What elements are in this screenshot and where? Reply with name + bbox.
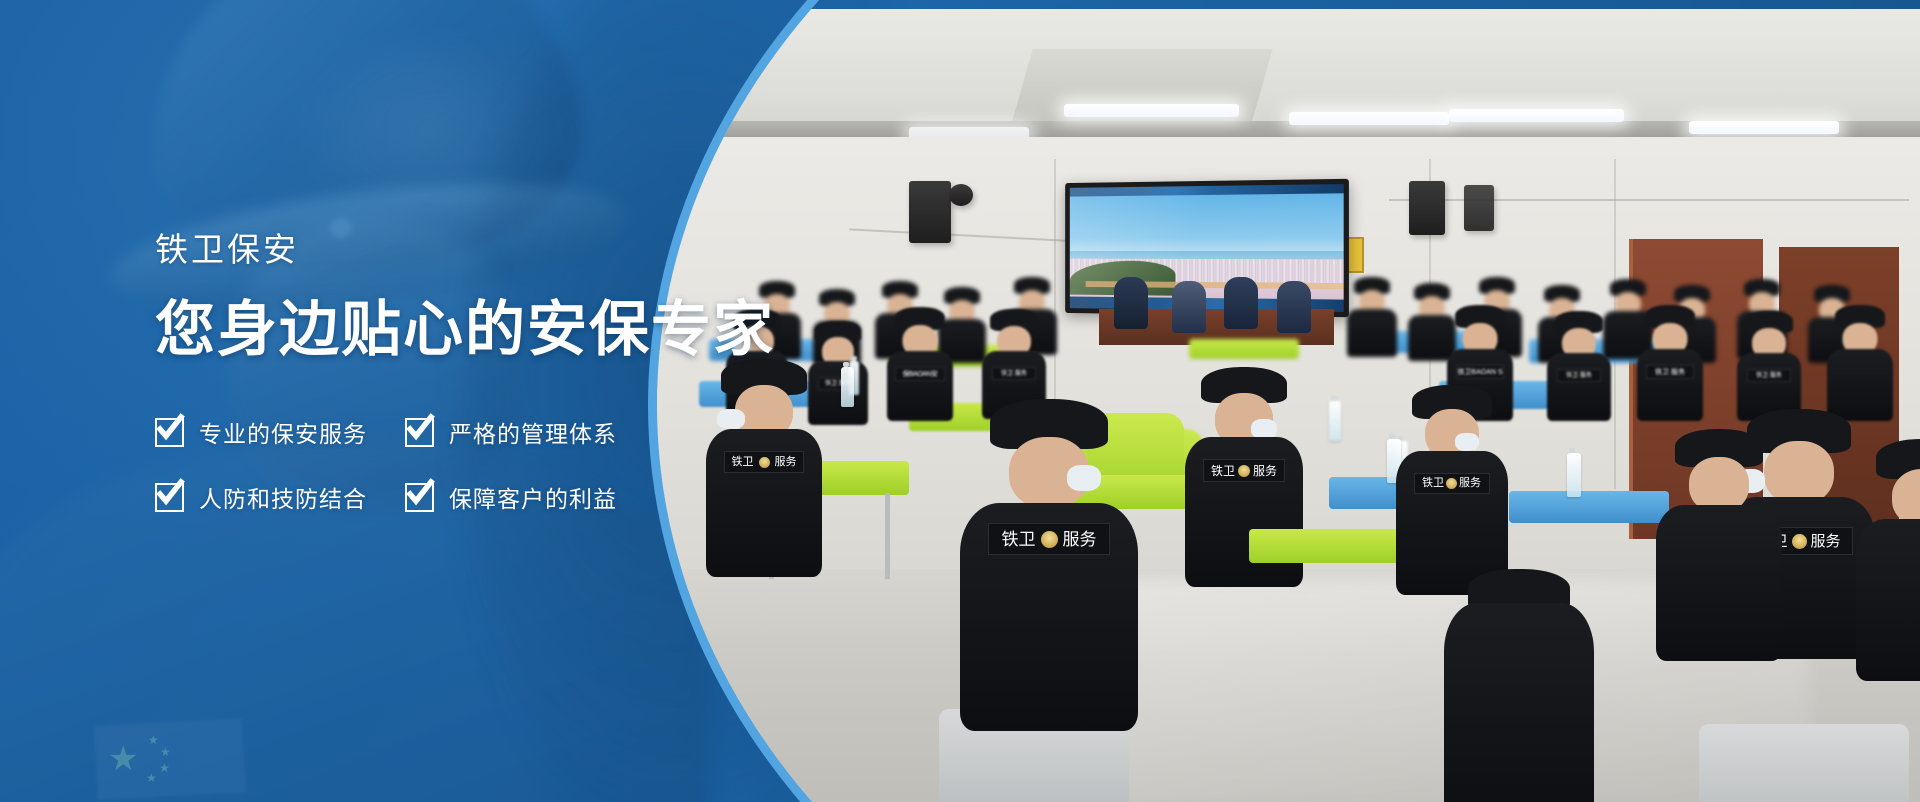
water-bottle-3 (1567, 453, 1581, 497)
guard-foreground-right (1449, 569, 1589, 802)
flag-star-small-2: ★ (160, 746, 171, 758)
feature-label-4: 保障客户的利益 (449, 480, 617, 514)
hero-copy: 铁卫保安 您身边贴心的安保专家 专业的保安服务 严格的管理体系 (155, 232, 795, 545)
guard-mid-8: 铁卫 服务 (1739, 311, 1799, 423)
classroom-photo: 铁卫 服务 铁卫 服务 保BAOAN安 (648, 9, 1920, 802)
feature-list: 专业的保安服务 严格的管理体系 人防和技防结合 (155, 415, 795, 514)
instructor-4 (1277, 281, 1311, 333)
water-bottle-1 (841, 367, 854, 407)
guard-right-1: 铁卫 服务 (1399, 385, 1504, 590)
instructor-2 (1172, 281, 1206, 333)
guard-right-2 (1659, 429, 1779, 659)
feature-item-3: 人防和技防结合 (155, 480, 405, 514)
feature-item-2: 严格的管理体系 (405, 415, 617, 449)
guard-foreground-main: 铁卫 服务 (969, 399, 1129, 729)
flag-star-small-4: ★ (146, 772, 157, 784)
feature-row-1: 专业的保安服务 严格的管理体系 (155, 415, 795, 449)
guard-mid-3: 保BAOAN安 (889, 307, 951, 421)
feature-label-2: 严格的管理体系 (449, 415, 617, 449)
check-box-icon (155, 418, 184, 447)
check-box-icon (405, 483, 434, 512)
classroom-photo-circle: 铁卫 服务 铁卫 服务 保BAOAN安 (648, 0, 1920, 802)
page-title: 您身边贴心的安保专家 (155, 296, 795, 363)
instructor-3 (1224, 277, 1258, 329)
feature-item-4: 保障客户的利益 (405, 480, 617, 514)
flag-star-small-3: ★ (159, 762, 170, 774)
feature-label-1: 专业的保安服务 (199, 415, 367, 449)
check-box-icon (155, 483, 184, 512)
feature-label-3: 人防和技防结合 (199, 480, 367, 514)
chair-back-front-2 (1699, 724, 1909, 802)
guard-mid-6: 铁卫 服务 (1549, 311, 1609, 423)
guard-mid-7: 铁卫 服务 (1639, 305, 1701, 421)
instructor-1 (1114, 277, 1148, 329)
brand-name: 铁卫保安 (155, 232, 795, 268)
feature-row-2: 人防和技防结合 保障客户的利益 (155, 480, 795, 514)
guard-mid-9 (1829, 305, 1891, 421)
hero-banner: ★ ★ ★ ★ ★ (0, 0, 1920, 802)
guard-right-3 (1859, 439, 1920, 679)
flag-star-small-1: ★ (148, 734, 159, 746)
feature-item-1: 专业的保安服务 (155, 415, 405, 449)
guard-far-6 (1349, 277, 1395, 351)
check-box-icon (405, 418, 434, 447)
flag-star-large: ★ (108, 742, 138, 776)
